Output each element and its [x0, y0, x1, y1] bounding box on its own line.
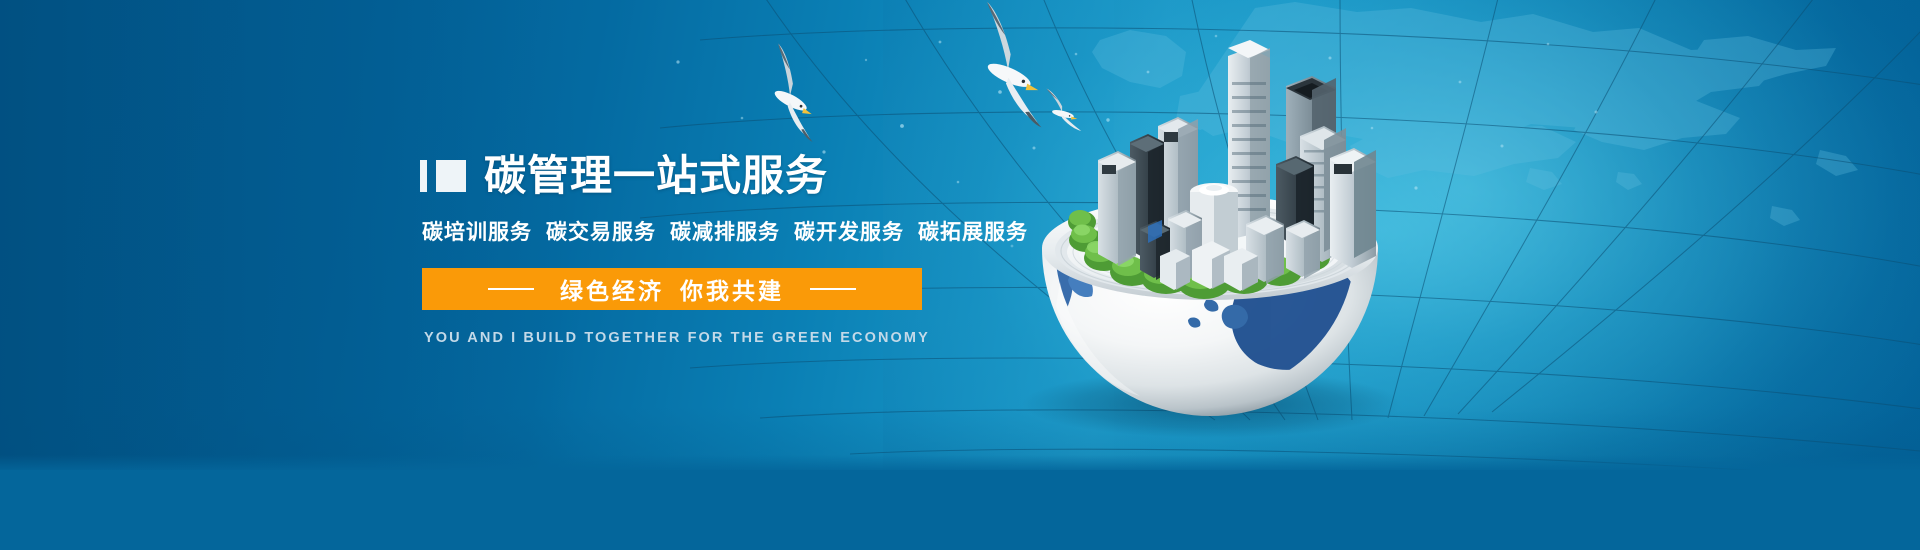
- banner-text-content: 碳管理一站式服务 碳培训服务碳交易服务碳减排服务碳开发服务碳拓展服务 绿色经济你…: [420, 150, 1040, 346]
- slogan-part-2: 你我共建: [680, 278, 784, 304]
- service-item-1: 碳培训服务: [422, 221, 532, 244]
- service-item-2: 碳交易服务: [546, 221, 656, 244]
- service-item-5: 碳拓展服务: [918, 221, 1028, 244]
- page-title: 碳管理一站式服务: [484, 155, 828, 197]
- slogan-right-rule-icon: [810, 288, 856, 290]
- services-list: 碳培训服务碳交易服务碳减排服务碳开发服务碳拓展服务: [422, 216, 1040, 246]
- marker-square-shape: [436, 160, 466, 192]
- slogan-banner: 绿色经济你我共建: [422, 268, 922, 310]
- service-item-4: 碳开发服务: [794, 221, 904, 244]
- slogan-text: 绿色经济你我共建: [560, 272, 784, 306]
- bar-square-marker-icon: [420, 160, 466, 192]
- slogan-left-rule-icon: [488, 288, 534, 290]
- marker-bar-shape: [420, 160, 427, 192]
- english-tagline: YOU AND I BUILD TOGETHER FOR THE GREEN E…: [424, 330, 1040, 346]
- headline-row: 碳管理一站式服务: [420, 150, 1040, 202]
- carbon-management-banner: 碳管理一站式服务 碳培训服务碳交易服务碳减排服务碳开发服务碳拓展服务 绿色经济你…: [0, 0, 1920, 550]
- service-item-3: 碳减排服务: [670, 221, 780, 244]
- slogan-part-1: 绿色经济: [560, 278, 664, 304]
